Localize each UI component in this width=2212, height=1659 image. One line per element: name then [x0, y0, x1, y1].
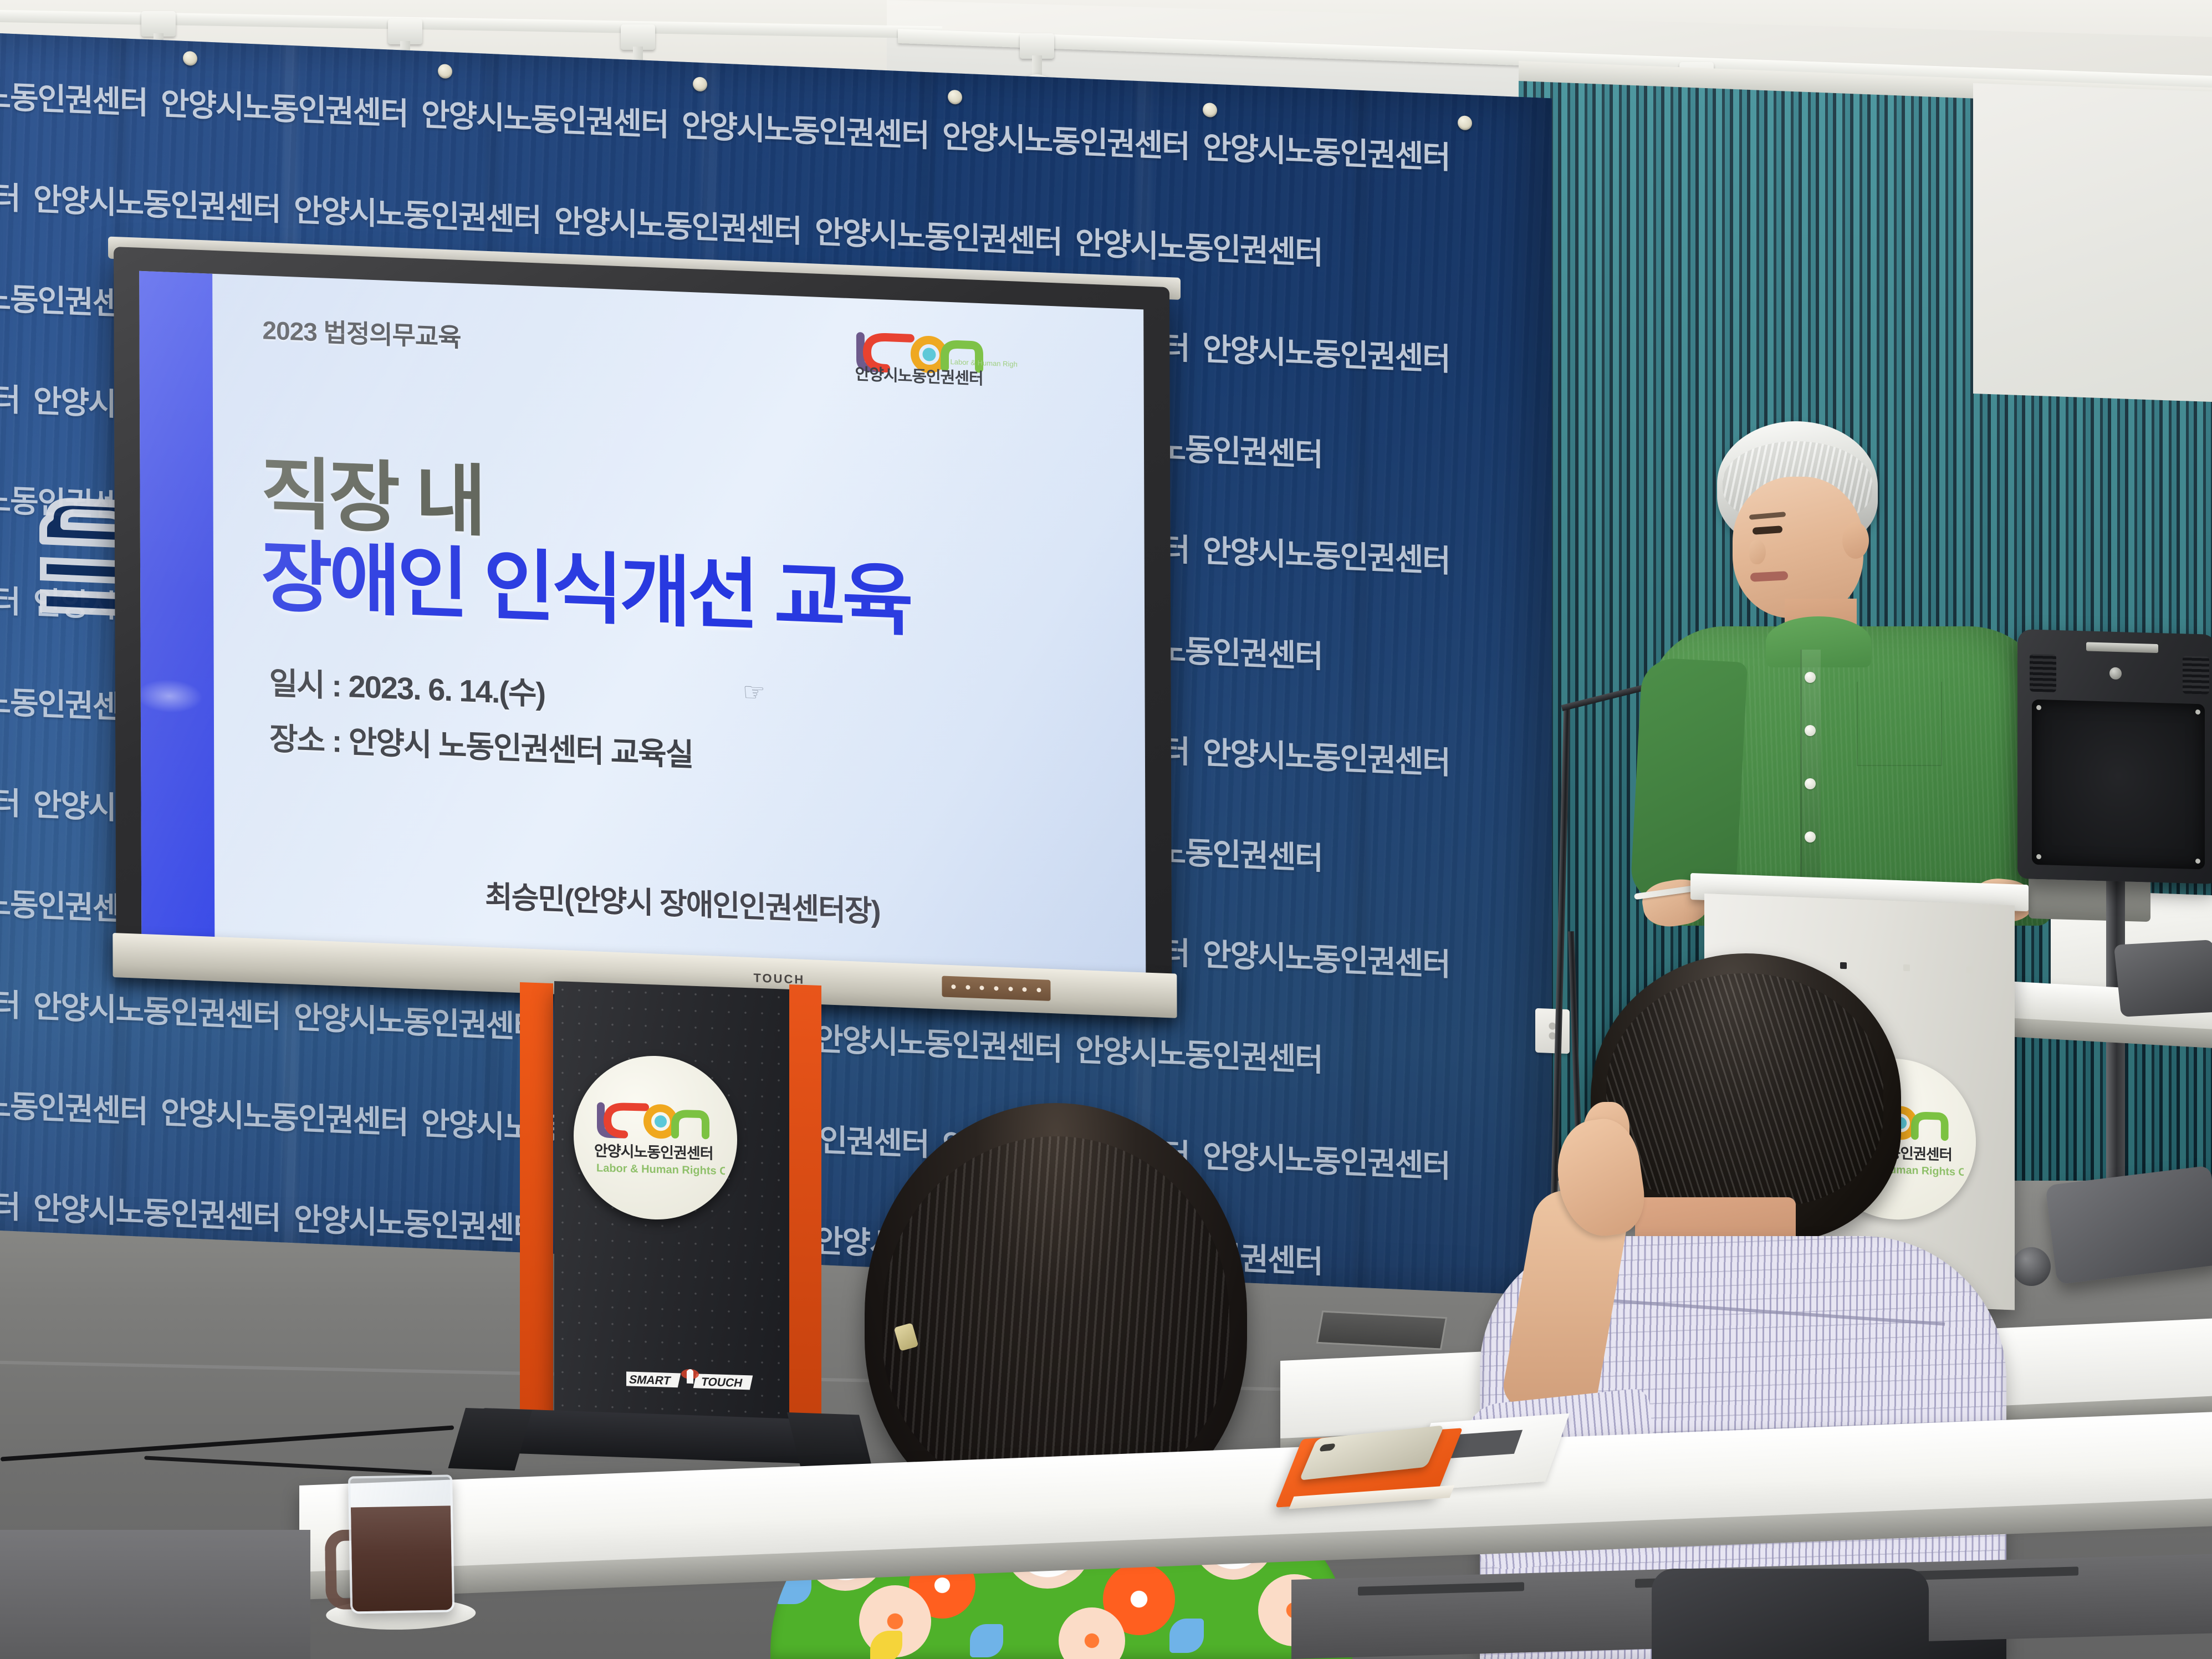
room-photo-scene: 안양시노동인권센터안양시노동인권센터안양시노동인권센터안양시노동인권센터안양시노… [0, 0, 2212, 1659]
banner-grommet [1203, 103, 1217, 118]
svg-text:안양시노동인권센터: 안양시노동인권센터 [855, 365, 983, 387]
banner-text-item: 안양시노동인권센터 [0, 1076, 147, 1132]
presenter-shirt-pocket [1857, 682, 1942, 766]
lcon-logo-icon: 안양시노동인권센터 Labor & Human Rights Center [586, 1094, 725, 1181]
display-screen[interactable]: 2023 법정의무교육 Labor & Human Rights Center … [139, 271, 1146, 982]
speaker-grille [2032, 700, 2205, 870]
touch-hand-icon [687, 1369, 693, 1384]
banner-text-item: 안양시노동인권센터 [0, 164, 20, 219]
banner-text-item: 안양시노동인권센터 [554, 196, 801, 252]
pointer-cursor-icon: ☞ [743, 677, 765, 708]
banner-text-item: 안양시노동인권센터 [1075, 1025, 1322, 1080]
banner-text-item: 안양시노동인권센터 [33, 982, 280, 1037]
banner-text-item: 안양시노동인권센터 [0, 68, 147, 123]
banner-text-item: 안양시노동인권센터 [161, 1088, 408, 1143]
banner-text-item: 안양시노동인권센터 [1203, 930, 1450, 985]
speaker-vent [2183, 656, 2209, 694]
lcon-logo-icon: Labor & Human Rights Center 안양시노동인권센터 [851, 324, 1018, 388]
coffee-mug [348, 1474, 450, 1609]
banner-text-item: 안양시노동인권센터 [1203, 728, 1450, 783]
banner-text-item: 안양시노동인권센터 [0, 365, 20, 421]
banner-text-item: 안양시노동인권센터 [0, 971, 20, 1026]
foreground-chair [1652, 1569, 1929, 1659]
banner-text-item: 안양시노동인권센터 [0, 567, 20, 622]
banner-text-item: 안양시노동인권센터 [294, 992, 541, 1048]
presenter-figure [1624, 421, 2078, 920]
office-chair [2045, 1165, 2212, 1284]
chair-caster [2012, 1247, 2051, 1286]
display-stand-accent-left [520, 982, 553, 1421]
banner-text-item: 안양시노동인권센터 [1075, 218, 1322, 273]
banner-text-item: 안양시노동인권센터 [1203, 324, 1450, 380]
svg-text:TOUCH: TOUCH [700, 1376, 744, 1390]
presenter-arm [1630, 657, 1748, 906]
slide-title-line-2: 장애인 인식개선 교육 [261, 514, 911, 651]
banner-text-item: 안양시노동인권센터 [815, 1014, 1062, 1070]
shirt-button [1805, 778, 1816, 789]
banner-grommet [438, 64, 452, 79]
banner-text-item: 안양시노동인권센터 [0, 1172, 20, 1228]
banner-text-item: 안양시노동인권센터 [294, 185, 541, 241]
coffee-liquid [351, 1505, 452, 1611]
shirt-button [1805, 725, 1816, 736]
banner-grommet [948, 90, 962, 105]
svg-text:Labor & Human Rights Center: Labor & Human Rights Center [950, 358, 1018, 370]
stand-badge-english: Labor & Human Rights Center [596, 1162, 725, 1178]
banner-text-item: 안양시노동인권센터 [1203, 526, 1450, 581]
audience-member-man [1452, 953, 2006, 1659]
smart-touch-brand: SMART TOUCH [626, 1367, 754, 1395]
pa-speaker [2017, 629, 2212, 884]
shirt-button [1805, 831, 1816, 843]
stand-badge-korean: 안양시노동인권센터 [594, 1142, 713, 1162]
banner-text-item: 안양시노동인권센터 [294, 1194, 541, 1249]
banner-text-item: 안양시노동인권센터 [815, 207, 1062, 263]
banner-grommet [693, 76, 707, 91]
back-chair [2114, 940, 2212, 1017]
slide-presenter: 최승민(안양시 장애인인권센터장) [485, 872, 880, 931]
banner-text-item: 안양시노동인권센터 [161, 79, 408, 134]
banner-text-item: 안양시노동인권센터 [942, 111, 1189, 167]
mug-glass [348, 1474, 454, 1614]
banner-text-item: 안양시노동인권센터 [1203, 122, 1450, 178]
foreground-left-surface [0, 1530, 310, 1659]
speaker-vent [2030, 654, 2056, 692]
banner-grommet [1458, 115, 1472, 130]
speaker-handle [2086, 642, 2158, 653]
banner-text-item: 안양시노동인권센터 [33, 175, 280, 230]
banner-text-item: 안양시노동인권센터 [0, 769, 20, 824]
speaker-knob[interactable] [2109, 667, 2122, 680]
presenter-ear [1842, 522, 1869, 559]
svg-text:SMART: SMART [628, 1374, 672, 1387]
banner-grommet [183, 51, 197, 66]
slide-place: 장소 : 안양시 노동인권센터 교육실 [269, 714, 693, 775]
slide-accent-bar [139, 271, 214, 946]
slide-eyebrow: 2023 법정의무교육 [262, 310, 461, 354]
presenter-nose [1749, 540, 1766, 564]
interactive-display[interactable]: 2023 법정의무교육 Labor & Human Rights Center … [114, 247, 1172, 1024]
slide-date: 일시 : 2023. 6. 14.(수) [269, 659, 545, 714]
shirt-button [1805, 672, 1816, 683]
banner-text-item: 안양시노동인권센터 [33, 1183, 280, 1239]
right-wall-panel [1973, 83, 2212, 402]
banner-text-item: 안양시노동인권센터 [682, 101, 929, 156]
display-control-panel[interactable] [942, 976, 1050, 1001]
banner-text-item: 안양시노동인권센터 [421, 90, 668, 145]
